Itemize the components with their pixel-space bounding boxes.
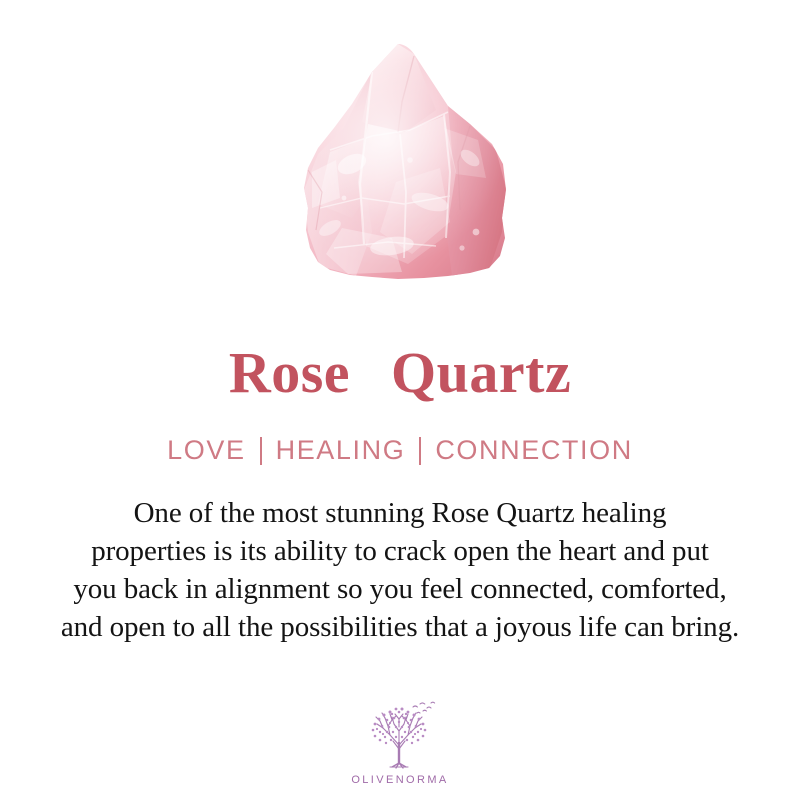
product-info-card: Rose Quartz LOVE HEALING CONNECTION One … [0, 0, 800, 800]
product-description: One of the most stunning Rose Quartz hea… [20, 494, 780, 646]
keyword-love: LOVE [167, 437, 245, 464]
keyword-connection: CONNECTION [435, 437, 633, 464]
keyword-row: LOVE HEALING CONNECTION [167, 436, 633, 464]
description-line: properties is its ability to crack open … [20, 532, 780, 570]
brand-logo: OLIVENORMA [0, 699, 800, 786]
keyword-healing: HEALING [276, 437, 406, 464]
page-title: Rose Quartz [229, 344, 571, 402]
brand-name: OLIVENORMA [351, 774, 448, 786]
description-line: and open to all the possibilities that a… [20, 608, 780, 646]
keyword-separator [260, 437, 262, 465]
rose-quartz-crystal-icon [0, 0, 800, 300]
tree-of-life-with-birds-icon [361, 699, 439, 771]
description-line: you back in alignment so you feel connec… [20, 570, 780, 608]
description-line: One of the most stunning Rose Quartz hea… [20, 494, 780, 532]
keyword-separator [419, 437, 421, 465]
product-image [0, 0, 800, 300]
